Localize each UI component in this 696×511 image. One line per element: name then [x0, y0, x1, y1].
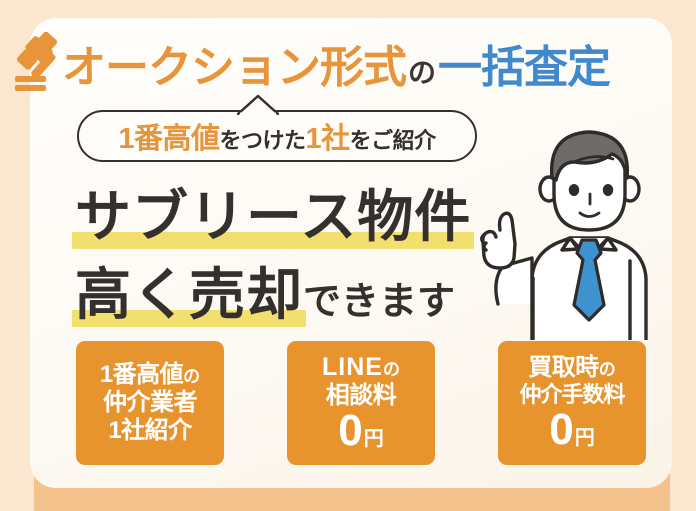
feature-box-line-2-text: 仲介手数料	[519, 382, 624, 408]
speech-bubble: 1番高値 をつけた 1社 をご紹介	[77, 110, 477, 162]
gavel-icon	[13, 32, 79, 94]
feature-box-line-3-text: 1社紹介	[108, 417, 191, 445]
main-message-text-1: サブリース物件	[75, 185, 471, 248]
feature-box-line-consultation-free[interactable]: LINE の 相談料 0 円	[287, 341, 435, 465]
feature-box-line-1-main: 1番高値	[100, 361, 183, 389]
feature-box-line-1: LINE の	[322, 353, 400, 382]
headline-blue-text: 一括査定	[438, 31, 610, 95]
feature-box-line-2: 相談料	[326, 382, 397, 410]
feature-box-amount: 0	[338, 409, 362, 453]
feature-box-line-1-main: LINE	[322, 353, 383, 382]
feature-box-brokerage-fee-free[interactable]: 買取時 の 仲介手数料 0 円	[498, 341, 646, 465]
feature-box-line-2: 仲介業者	[103, 389, 197, 417]
main-message-line-1: サブリース物件	[75, 172, 471, 253]
feature-box-top-price-agent[interactable]: 1番高値 の 仲介業者 1社紹介	[76, 341, 224, 465]
highlight-wrap-1: サブリース物件	[75, 172, 471, 253]
bubble-part-4: をご紹介	[350, 123, 436, 155]
businessman-illustration	[470, 118, 690, 340]
feature-box-amount: 0	[549, 408, 573, 452]
feature-box-line-3: 0 円	[338, 409, 383, 453]
feature-box-line-1-main: 買取時	[528, 354, 599, 382]
feature-box-line-1-sub: の	[183, 367, 200, 387]
feature-box-line-1: 買取時 の	[528, 354, 616, 382]
feature-box-currency-unit: 円	[574, 427, 595, 450]
feature-box-line-2-text: 相談料	[326, 382, 397, 410]
bubble-part-1: 1番高値	[118, 115, 219, 157]
feature-box-line-1-sub: の	[599, 360, 616, 380]
bubble-part-2: をつけた	[219, 123, 305, 155]
headline-particle: の	[406, 51, 438, 91]
headline-top: オークション形式 の 一括査定	[62, 31, 662, 87]
feature-box-line-2: 仲介手数料	[519, 382, 624, 408]
feature-box-line-3: 1社紹介	[108, 417, 191, 445]
highlight-wrap-2: 高く売却	[75, 250, 303, 331]
promo-banner: オークション形式 の 一括査定 1番高値 をつけた 1社 をご紹介 サブリース物…	[0, 0, 696, 511]
bubble-part-3: 1社	[306, 115, 350, 157]
main-message-text-2: 高く売却	[75, 263, 303, 326]
main-message-line-2: 高く売却 できます	[75, 250, 455, 331]
feature-box-currency-unit: 円	[363, 428, 384, 451]
feature-box-line-1-sub: の	[383, 360, 400, 380]
feature-box-row: 1番高値 の 仲介業者 1社紹介 LINE の 相談料 0 円	[76, 341, 646, 466]
headline-orange-text: オークション形式	[62, 31, 406, 95]
feature-box-line-2-text: 仲介業者	[103, 389, 197, 417]
speech-bubble-text: 1番高値 をつけた 1社 をご紹介	[118, 115, 435, 157]
feature-box-line-3: 0 円	[549, 408, 594, 452]
feature-box-line-1: 1番高値 の	[100, 361, 200, 389]
main-message-tail: できます	[303, 281, 455, 323]
speech-bubble-notch	[237, 93, 279, 115]
